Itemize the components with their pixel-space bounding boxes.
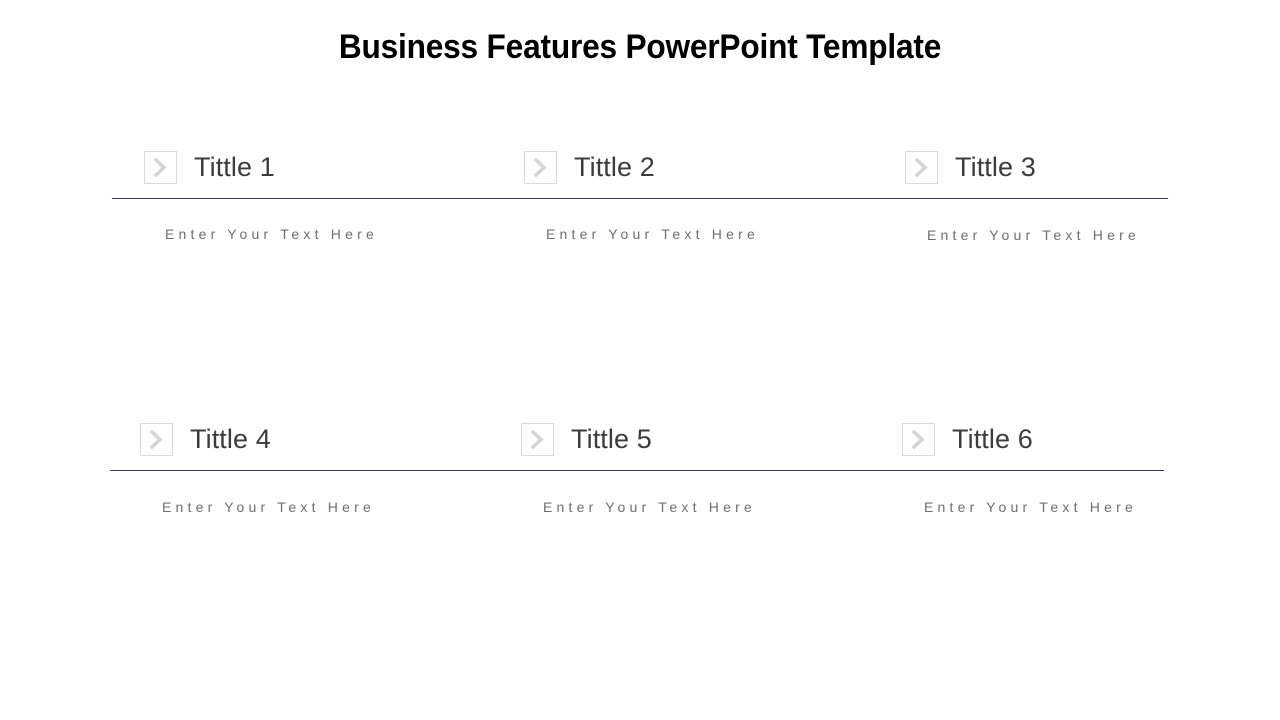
chevron-right-icon [902,423,935,456]
chevron-right-icon [144,151,177,184]
row-1-divider [112,198,1168,199]
row-1-captions: Enter Your Text Here Enter Your Text Her… [0,211,1280,235]
row-1-headings: Tittle 1 Tittle 2 Tittle 3 [0,145,1280,191]
chevron-right-icon [140,423,173,456]
feature-item-2-caption: Enter Your Text Here [546,224,759,244]
slide-canvas: Business Features PowerPoint Template Ti… [0,0,1280,720]
feature-item-5-title: Tittle 5 [571,426,652,453]
feature-item-5[interactable]: Tittle 5 [521,417,652,461]
row-2-divider [110,470,1164,471]
row-2-headings: Tittle 4 Tittle 5 Tittle 6 [0,417,1280,463]
chevron-right-icon [905,151,938,184]
feature-item-6-caption: Enter Your Text Here [924,497,1137,517]
feature-item-6-title: Tittle 6 [952,426,1033,453]
feature-row-1: Tittle 1 Tittle 2 Tittle 3 [0,145,1280,191]
feature-item-4-title: Tittle 4 [190,426,271,453]
feature-item-1-caption: Enter Your Text Here [165,224,378,244]
feature-item-3-caption: Enter Your Text Here [927,225,1140,245]
page-title: Business Features PowerPoint Template [45,28,1235,67]
feature-item-2-title: Tittle 2 [574,154,655,181]
feature-item-3-title: Tittle 3 [955,154,1036,181]
feature-row-2: Tittle 4 Tittle 5 Tittle 6 [0,417,1280,463]
feature-item-4-caption: Enter Your Text Here [162,497,375,517]
feature-item-2[interactable]: Tittle 2 [524,145,655,189]
feature-item-5-caption: Enter Your Text Here [543,497,756,517]
feature-item-3[interactable]: Tittle 3 [905,145,1036,189]
chevron-right-icon [524,151,557,184]
feature-item-1-title: Tittle 1 [194,154,275,181]
feature-item-1[interactable]: Tittle 1 [144,145,275,189]
chevron-right-icon [521,423,554,456]
feature-item-4[interactable]: Tittle 4 [140,417,271,461]
feature-item-6[interactable]: Tittle 6 [902,417,1033,461]
row-2-captions: Enter Your Text Here Enter Your Text Her… [0,483,1280,507]
